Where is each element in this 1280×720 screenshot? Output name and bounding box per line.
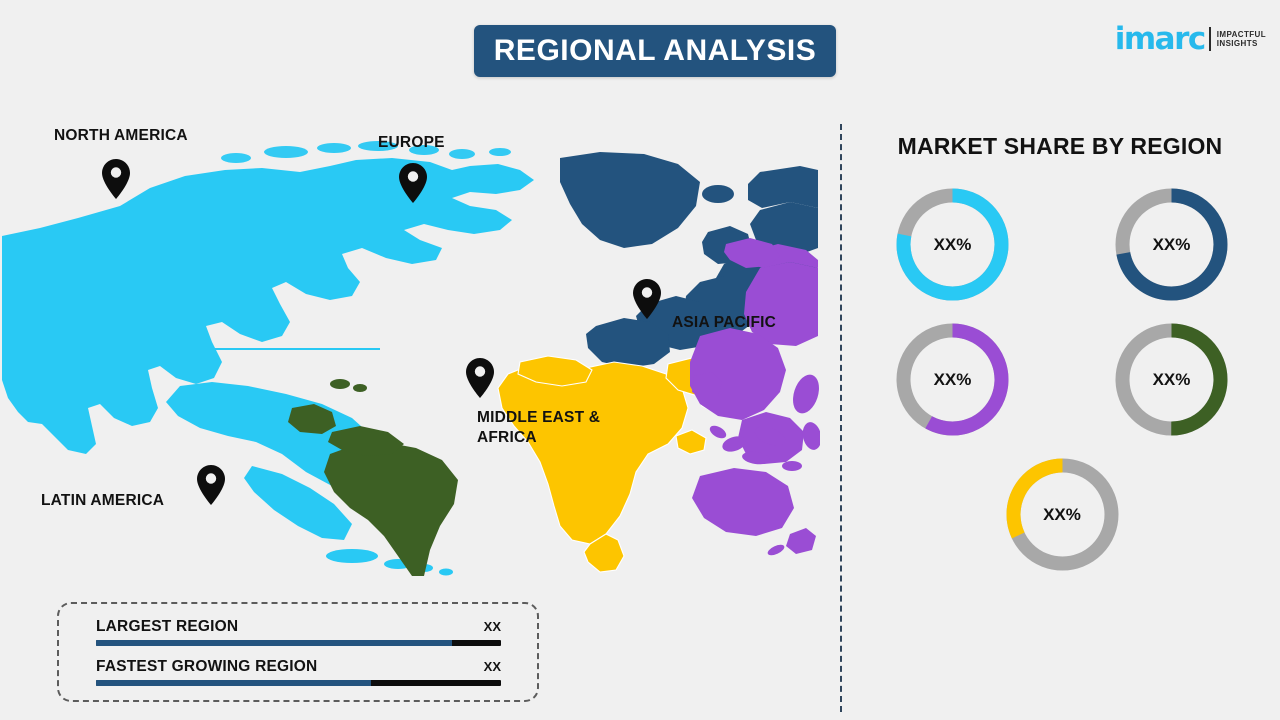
donut-value-europe: XX%: [1115, 188, 1228, 301]
fastest-growing-region-row: FASTEST GROWING REGION XX: [96, 658, 501, 686]
fastest-growing-region-label: FASTEST GROWING REGION: [96, 658, 317, 676]
map-label-europe: EUROPE: [378, 133, 445, 153]
region-summary-box: LARGEST REGION XX FASTEST GROWING REGION…: [57, 602, 539, 702]
donut-latin-america: XX%: [1115, 323, 1228, 436]
page-title: REGIONAL ANALYSIS: [494, 34, 816, 68]
donut-asia-pacific: XX%: [896, 323, 1009, 436]
donut-middle-east-africa: XX%: [1006, 458, 1119, 571]
map-label-latin-america: LATIN AMERICA: [41, 491, 164, 511]
largest-region-progress-bar: [96, 640, 501, 646]
largest-region-label: LARGEST REGION: [96, 618, 238, 636]
donut-europe: XX%: [1115, 188, 1228, 301]
largest-region-value: XX: [484, 619, 501, 634]
donut-row-1: XX% XX%: [862, 188, 1262, 301]
logo-tagline-line1: IMPACTFUL: [1217, 30, 1266, 39]
map-pin-europe[interactable]: [398, 162, 428, 204]
map-label-north-america: NORTH AMERICA: [54, 126, 188, 146]
logo-divider-icon: [1209, 27, 1211, 51]
logo-tagline-line2: INSIGHTS: [1217, 39, 1266, 48]
imarc-logo: imarc IMPACTFUL INSIGHTS: [1115, 22, 1266, 56]
page-title-banner: REGIONAL ANALYSIS: [474, 25, 836, 77]
largest-region-progress-fill: [96, 640, 452, 646]
market-share-title: MARKET SHARE BY REGION: [840, 133, 1280, 160]
fastest-growing-region-value: XX: [484, 659, 501, 674]
map-label-asia-pacific: ASIA PACIFIC: [672, 313, 776, 333]
map-pin-asia-pacific[interactable]: [632, 278, 662, 320]
donut-value-asia-pacific: XX%: [896, 323, 1009, 436]
map-pin-middle-east-africa[interactable]: [465, 357, 495, 399]
map-pin-latin-america[interactable]: [196, 464, 226, 506]
logo-wordmark: imarc: [1115, 24, 1205, 55]
donut-value-middle-east-africa: XX%: [1006, 458, 1119, 571]
largest-region-row: LARGEST REGION XX: [96, 618, 501, 646]
fastest-growing-region-progress-bar: [96, 680, 501, 686]
map-pin-north-america[interactable]: [101, 158, 131, 200]
market-share-donut-grid: XX% XX% XX% XX%: [862, 188, 1262, 593]
logo-tagline: IMPACTFUL INSIGHTS: [1217, 30, 1266, 48]
donut-north-america: XX%: [896, 188, 1009, 301]
vertical-dashed-divider: [840, 124, 842, 712]
donut-row-3: XX%: [862, 458, 1262, 571]
map-region-latin-america: [288, 379, 458, 576]
donut-value-north-america: XX%: [896, 188, 1009, 301]
donut-value-latin-america: XX%: [1115, 323, 1228, 436]
donut-row-2: XX% XX%: [862, 323, 1262, 436]
fastest-growing-region-progress-fill: [96, 680, 371, 686]
map-label-middle-east-africa: MIDDLE EAST & AFRICA: [477, 408, 600, 448]
